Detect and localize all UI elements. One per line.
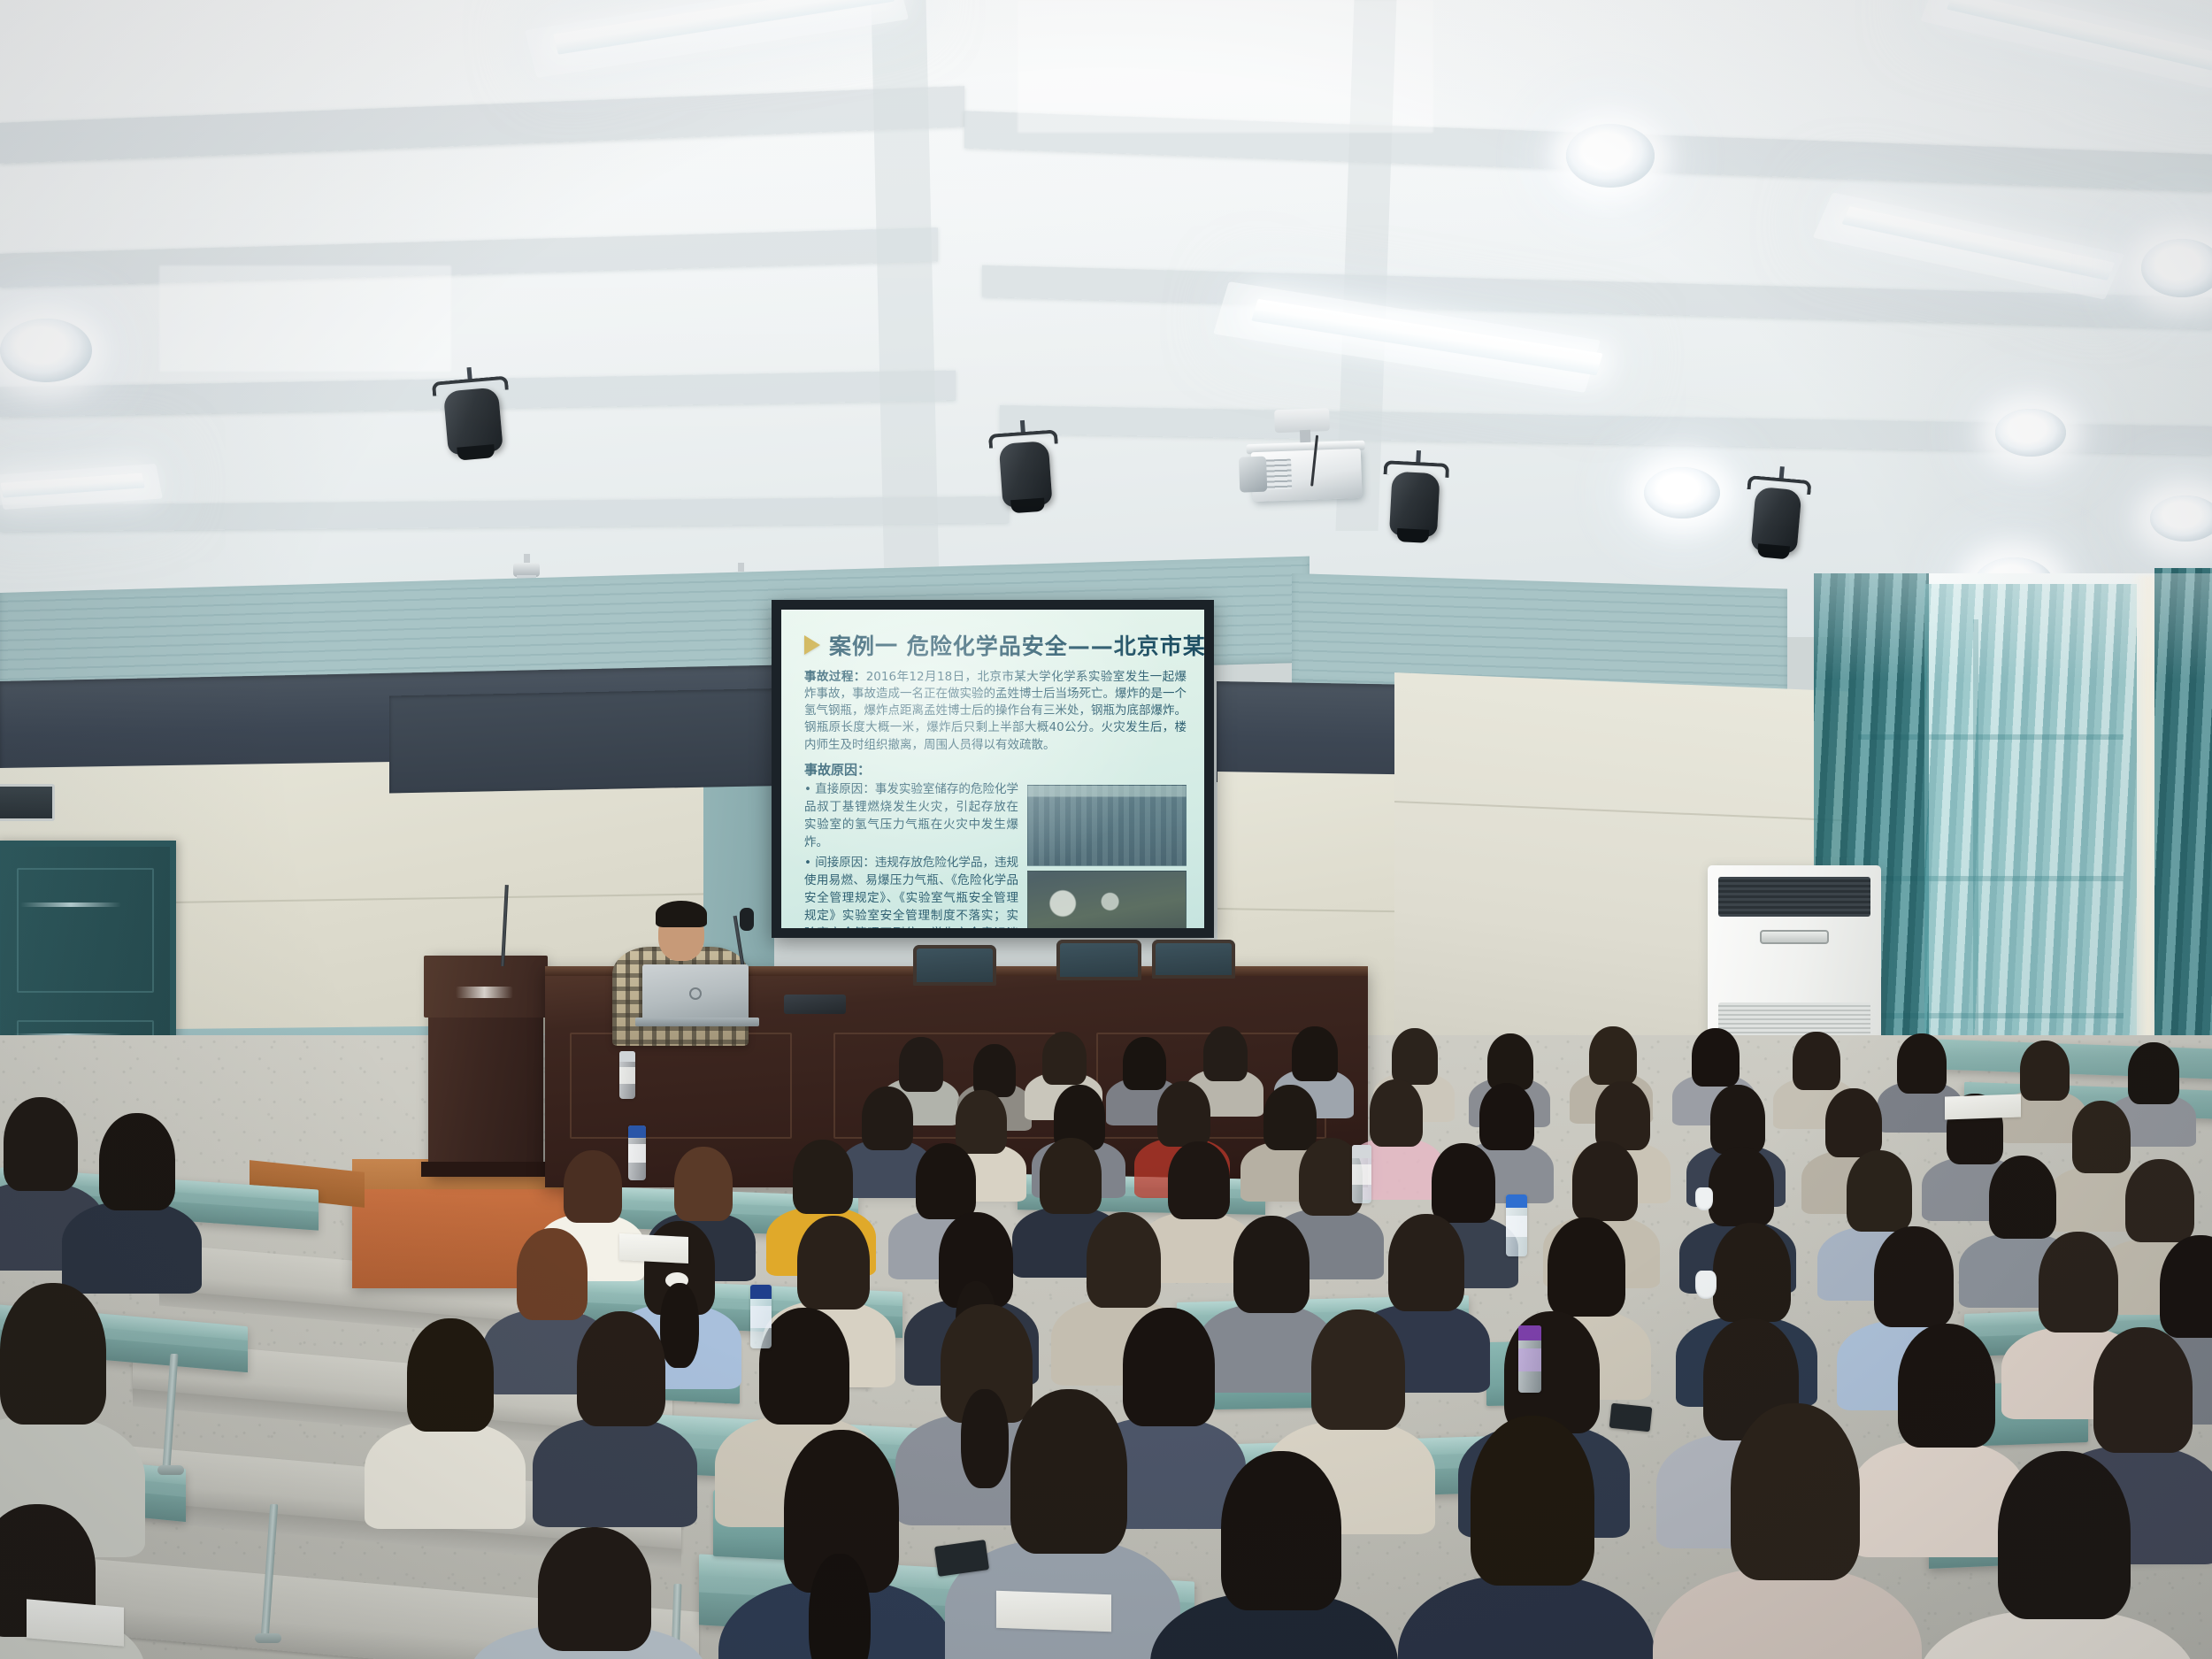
presenter-desk-device [784,995,846,1014]
ac-display-panel[interactable] [1760,930,1829,944]
burned-laboratory-interior-photo [1027,871,1187,928]
stage-spotlight [432,375,515,470]
water-bottle[interactable] [1518,1325,1541,1393]
ceiling-downlight [1644,467,1720,518]
slide-cause-item: • 间接原因：违规存放危险化学品，违规使用易燃、易爆压力气瓶、《危险化学品安全管… [804,855,1018,928]
ceiling-downlight [2150,495,2212,541]
water-bottle[interactable] [1352,1145,1371,1203]
student-audience-member [495,1527,681,1659]
wall-mounted-sign [0,784,55,821]
microphone-capsule [740,908,754,931]
student-audience-member [380,1318,510,1478]
mobile-phone[interactable] [1609,1403,1653,1432]
paper-notes[interactable] [619,1233,688,1263]
student-audience-member [549,1311,681,1474]
student-audience-member [1947,1451,2168,1659]
laptop-base [635,1018,759,1026]
water-bottle[interactable] [619,1051,635,1099]
triangle-bullet-icon [804,635,820,655]
desk-leg-foot [255,1633,281,1643]
paper-notes[interactable] [996,1591,1111,1632]
desk-leg-foot [157,1465,184,1475]
front-wall-dark-band [1217,681,1402,786]
student-audience-member [970,1389,1156,1619]
stage-spotlight [1741,475,1811,557]
ceiling-panel [159,265,451,372]
projection-screen: 案例一 危险化学品安全——北京市某大学实验室爆炸事故 事故过程：2016年12月… [772,600,1214,938]
ceiling-panel [1018,0,1433,133]
lecture-hall-photo: 案例一 危险化学品安全——北京市某大学实验室爆炸事故 事故过程：2016年12月… [0,0,2212,1659]
ceiling-mounted-projector [1242,407,1370,509]
head-table-chair[interactable] [913,945,996,986]
slide-cause-item: • 直接原因：事发实验室储存的危险化学品叔丁基锂燃烧发生火灾，引起存放在实验室的… [804,781,1018,852]
stage-spotlight [1380,460,1450,541]
burned-building-facade-photo [1027,785,1187,866]
student-audience-member [1425,1416,1628,1659]
projected-slide: 案例一 危险化学品安全——北京市某大学实验室爆炸事故 事故过程：2016年12月… [781,610,1204,928]
student-audience-member [1681,1403,1893,1659]
slide-title: 案例一 危险化学品安全——北京市某大学实验室爆炸事故 [829,629,1204,661]
head-table-chair[interactable] [1152,940,1235,979]
ceiling-downlight [0,319,92,382]
wall-display-board [389,687,805,793]
door-reflection [20,902,122,907]
slide-cause-heading: 事故原因： [804,760,1187,779]
water-bottle[interactable] [750,1285,772,1348]
curtain-highlight [1814,573,2212,680]
head-table-chair[interactable] [1056,940,1141,980]
slide-process-heading: 事故过程： [804,670,866,684]
paper-notes[interactable] [1945,1094,2021,1119]
water-bottle[interactable] [628,1125,646,1180]
ceiling-downlight [1995,409,2066,457]
student-audience-member [743,1430,929,1659]
table-front-panel [570,1033,792,1139]
stage-spotlight [988,429,1063,515]
ac-intake-grille [1718,877,1870,916]
slide-accident-process: 事故过程：2016年12月18日，北京市某大学化学系实验室发生一起爆炸事故，事故… [804,669,1187,754]
ceiling-downlight [1566,124,1655,188]
student-audience-member [76,1113,186,1251]
water-bottle[interactable] [1506,1194,1527,1256]
student-audience-member [0,1097,88,1230]
wooden-lectern[interactable] [428,956,543,1177]
student-audience-member [0,1283,124,1478]
laptop-computer[interactable] [642,964,749,1021]
student-audience-member [1177,1451,1371,1659]
door-upper-panel [17,868,155,992]
